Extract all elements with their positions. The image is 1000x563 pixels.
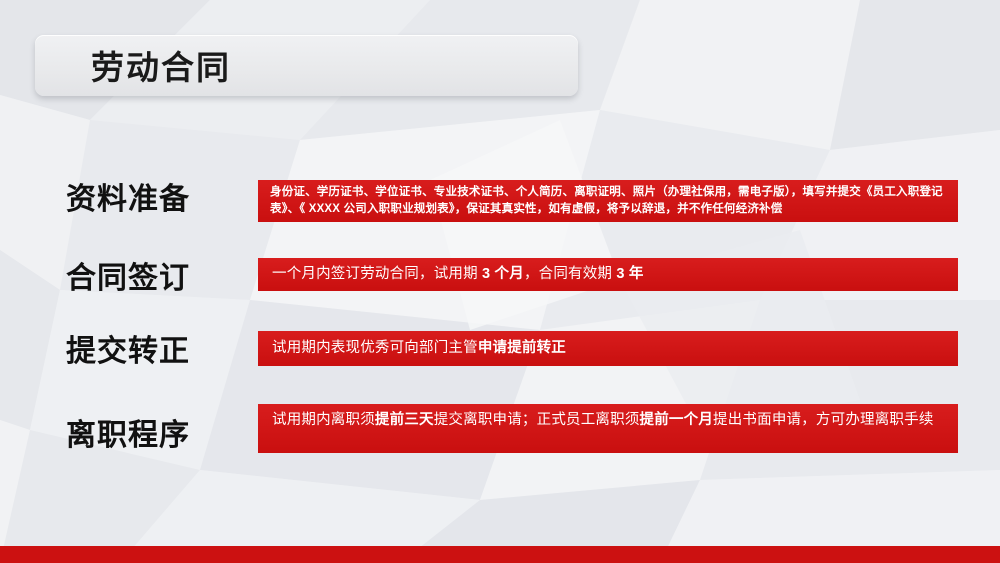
row-callout-box: 试用期内离职须提前三天提交离职申请；正式员工离职须提前一个月提出书面申请，方可办… — [258, 404, 958, 453]
row-callout-box: 身份证、学历证书、学位证书、专业技术证书、个人简历、离职证明、照片（办理社保用，… — [258, 180, 958, 222]
row-callout-box: 一个月内签订劳动合同，试用期 3 个月，合同有效期 3 年 — [258, 258, 958, 291]
row-label-ziliaozhunbei: 资料准备 — [66, 174, 190, 218]
row-callout-text: 一个月内签订劳动合同，试用期 3 个月，合同有效期 3 年 — [272, 264, 948, 285]
row-callout-box: 试用期内表现优秀可向部门主管申请提前转正 — [258, 331, 958, 366]
slide-canvas: 劳动合同 资料准备 身份证、学历证书、学位证书、专业技术证书、个人简历、离职证明… — [0, 0, 1000, 563]
row-callout-text: 试用期内离职须提前三天提交离职申请；正式员工离职须提前一个月提出书面申请，方可办… — [272, 410, 948, 431]
row-callout-text: 试用期内表现优秀可向部门主管申请提前转正 — [272, 338, 948, 359]
bottom-accent-bar — [0, 546, 1000, 563]
row-label-lizhichengxu: 离职程序 — [66, 410, 190, 454]
slide-title-plate: 劳动合同 — [35, 35, 578, 96]
row-label-hetongqianding: 合同签订 — [66, 253, 190, 297]
row-label-tijiaozhuanzheng: 提交转正 — [66, 326, 190, 370]
row-callout-text: 身份证、学历证书、学位证书、专业技术证书、个人简历、离职证明、照片（办理社保用，… — [270, 184, 948, 218]
page-title: 劳动合同 — [91, 41, 231, 89]
